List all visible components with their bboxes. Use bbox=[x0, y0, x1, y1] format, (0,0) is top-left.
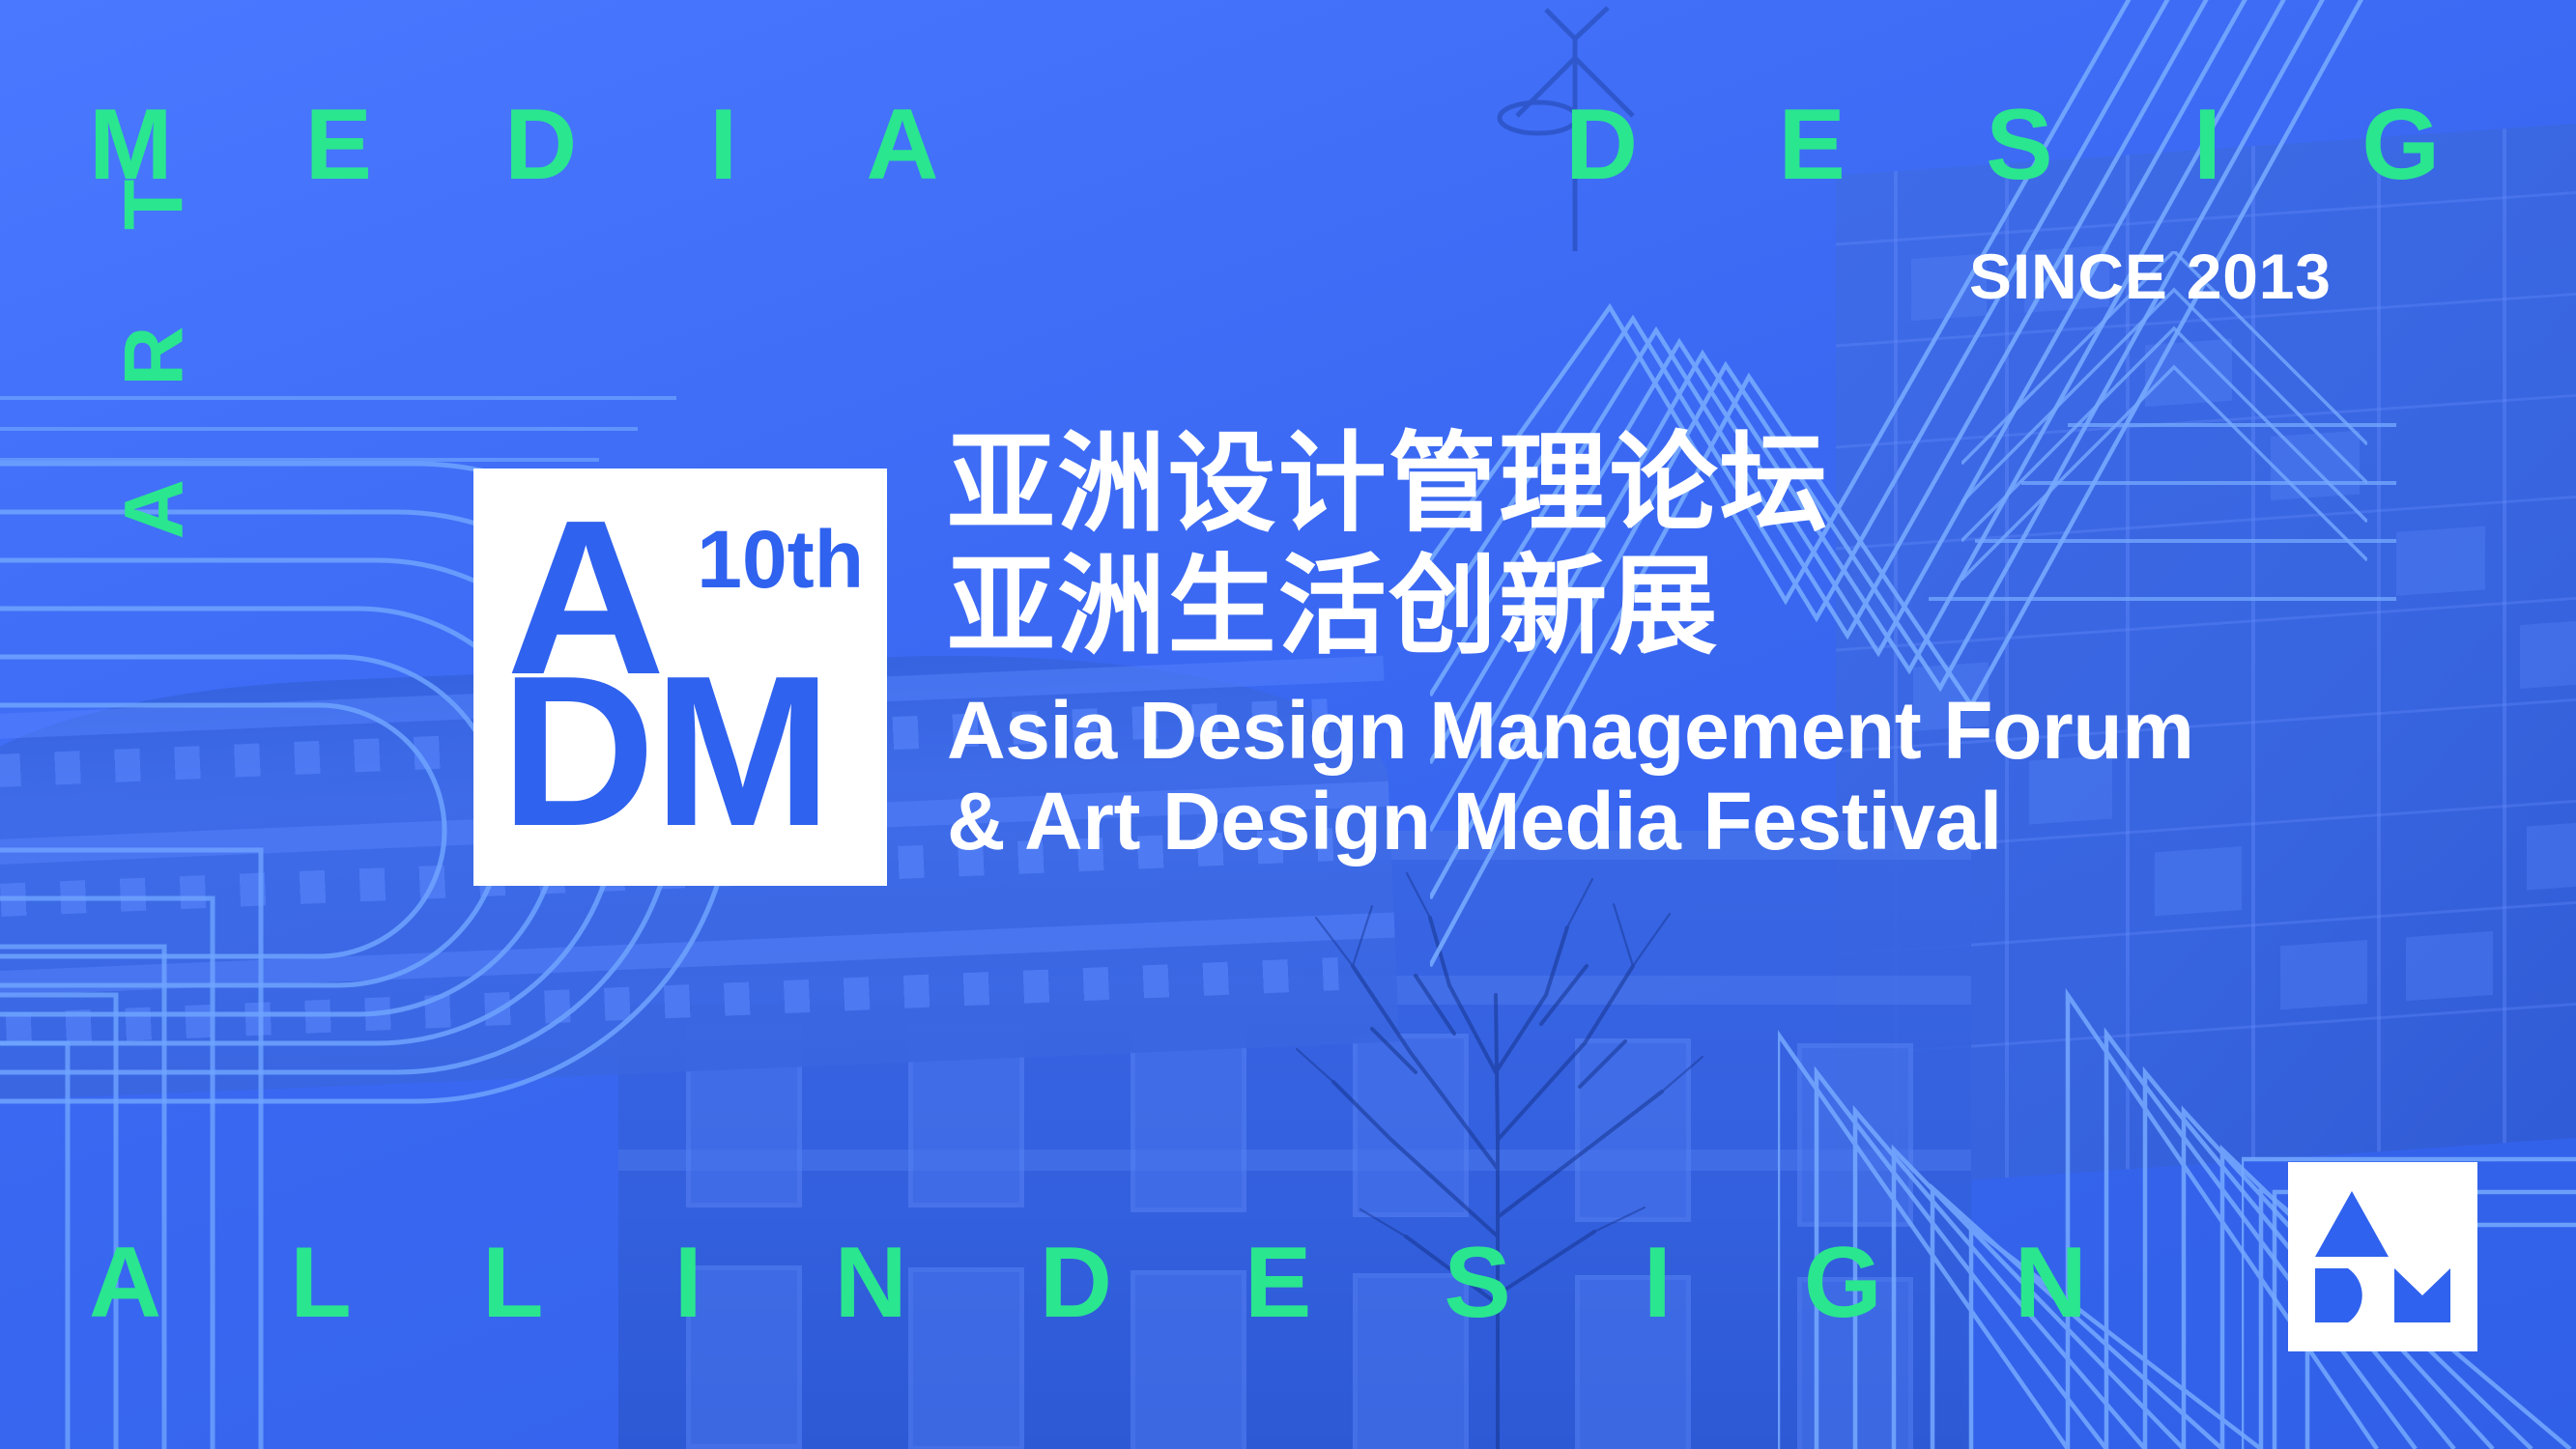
adm-logo-letters-dm: DM bbox=[501, 644, 830, 859]
title-block: 亚洲设计管理论坛 亚洲生活创新展 Asia Design Management … bbox=[947, 423, 2377, 867]
title-en-line-1: Asia Design Management Forum bbox=[947, 685, 2377, 776]
title-cn-line-2: 亚洲生活创新展 bbox=[947, 546, 2377, 667]
title-cn-line-1: 亚洲设计管理论坛 bbox=[947, 423, 2377, 544]
adm-logo-inner: A 10th DM bbox=[487, 482, 873, 872]
since-badge: SINCE 2013 bbox=[1969, 240, 2332, 313]
title-en-line-2: & Art Design Media Festival bbox=[947, 776, 2377, 867]
wordmark-art-vertical: A R T bbox=[112, 143, 195, 540]
adm-monogram-icon bbox=[2305, 1179, 2460, 1334]
wordmark-all-in-design: A L L I N D E S I G N bbox=[89, 1233, 2139, 1333]
adm-monogram-mark bbox=[2288, 1162, 2477, 1351]
adm-logo-card: A 10th DM bbox=[473, 469, 887, 886]
adm-festival-poster: M E D I A D E S I G N A R T A L L I N D … bbox=[0, 0, 2576, 1449]
adm-logo-edition: 10th bbox=[697, 519, 864, 600]
wordmark-design: D E S I G N bbox=[1565, 95, 2576, 195]
photo-tree-silhouette bbox=[1208, 850, 1807, 1449]
wordmark-media: M E D I A bbox=[89, 95, 991, 195]
